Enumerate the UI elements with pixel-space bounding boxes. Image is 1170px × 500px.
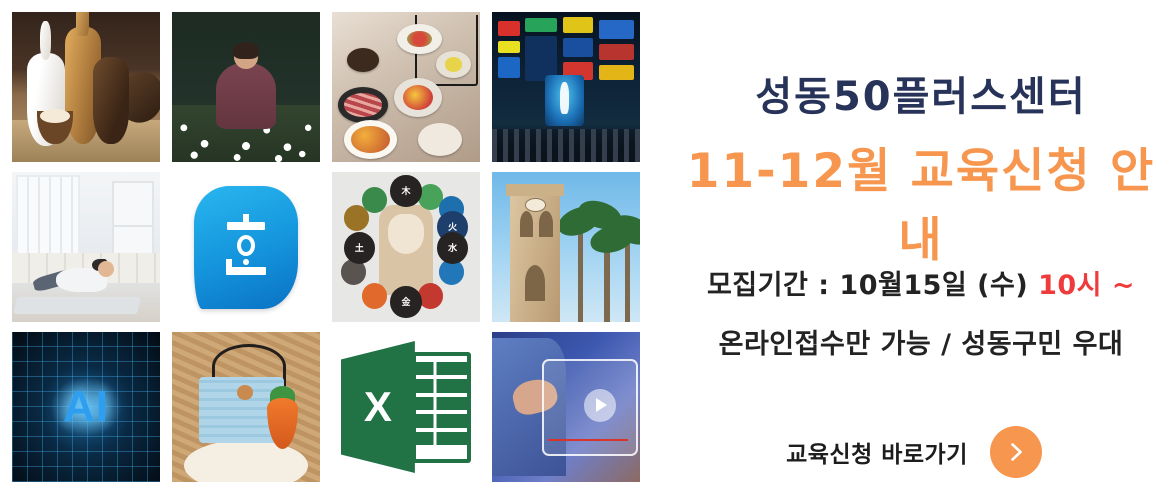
neon-sign [599, 65, 635, 80]
sauce-dish [347, 48, 380, 72]
gallery-tile-traditional-pottery-makgeolli[interactable] [12, 12, 160, 162]
five-elements-diagram: 木 火 土 金 水 [332, 172, 480, 322]
excel-logo-image: X [332, 332, 480, 482]
bottle-dark [93, 57, 129, 144]
yoga-mat [13, 297, 141, 314]
gallery-tile-japanese-kaiseki-cuisine[interactable] [332, 12, 480, 162]
element-node-metal: 金 [390, 286, 421, 318]
side-dish [436, 51, 472, 78]
element-sub-node [344, 205, 369, 231]
video-editing-photo [492, 332, 640, 482]
crochet-photo [172, 332, 320, 482]
announcement-panel: 성동50플러스센터 11-12월 교육신청 안내 모집기간 : 10월15일 (… [672, 0, 1170, 500]
spreadsheet-row [416, 414, 467, 427]
spreadsheet-row [416, 397, 467, 410]
gallery-tile-excel-logo[interactable]: X [332, 332, 480, 482]
head [98, 261, 114, 278]
figure-hair [233, 42, 260, 59]
appetizer-plate [397, 24, 441, 54]
excel-x-letter: X [341, 341, 415, 473]
spreadsheet-row [416, 379, 467, 392]
ai-circuit-image: AI [12, 332, 160, 482]
gallery-tile-hancom-hangul-app-icon[interactable] [172, 172, 320, 322]
glico-running-man-sign [545, 75, 583, 126]
apply-cta[interactable]: 교육신청 바로가기 [672, 420, 1170, 484]
promo-banner: 木 火 土 金 水 [0, 0, 1170, 500]
ho-glyph-bottom-bar [226, 267, 265, 275]
application-period-prefix: 모집기간 : 10월15일 (수) [707, 270, 1038, 301]
neon-sign [599, 44, 635, 61]
ho-glyph-top-bar [227, 222, 264, 230]
street-crowd [492, 129, 640, 162]
excel-spreadsheet [412, 352, 471, 463]
clock-tower-photo [492, 172, 640, 322]
neon-sign [599, 20, 635, 40]
main-plate [394, 78, 441, 117]
apply-cta-label: 교육신청 바로가기 [786, 435, 968, 469]
gallery-tile-ai-circuit-board[interactable]: AI [12, 332, 160, 482]
dotonbori-photo [492, 12, 640, 162]
gallery-tile-dotonbori-neon-night[interactable] [492, 12, 640, 162]
tower-arch [520, 211, 533, 237]
spreadsheet-row [416, 432, 467, 445]
neon-sign [498, 57, 520, 78]
beef-sashimi-plate [338, 87, 388, 123]
yoga-photo [12, 172, 160, 322]
application-period-line: 모집기간 : 10월15일 (수) 10시 ~ [672, 263, 1170, 302]
element-node-earth: 土 [344, 232, 375, 264]
neon-sign [525, 18, 558, 32]
bell-tower [510, 193, 560, 322]
soup-bowl [418, 123, 462, 156]
hancom-blob-shape [194, 186, 298, 309]
ho-glyph-ring [237, 235, 256, 257]
progress-bar [548, 439, 628, 441]
pottery-photo [12, 12, 160, 162]
lace-doily [184, 440, 308, 482]
tower-arch [525, 265, 546, 301]
element-sub-node [418, 283, 443, 309]
play-button-icon [584, 389, 617, 422]
apply-arrow-button[interactable] [990, 426, 1042, 478]
ho-glyph-dot [243, 259, 249, 266]
center-name-heading: 성동50플러스센터 [672, 64, 1170, 122]
seated-figure [216, 63, 275, 129]
human-organ-silhouette [379, 205, 432, 295]
wooden-button [237, 385, 253, 400]
element-node-water: 水 [437, 232, 468, 264]
neon-sign [498, 21, 520, 36]
course-image-gallery: 木 火 土 金 水 [12, 12, 652, 490]
tower-clock-face [525, 198, 546, 212]
gallery-tile-crochet-bag-carrot[interactable] [172, 332, 320, 482]
tower-arch [539, 211, 552, 237]
application-condition-line: 온라인접수만 가능 / 성동구민 우대 [672, 322, 1170, 361]
ai-label: AI [12, 332, 160, 482]
element-node-wood: 木 [390, 175, 421, 207]
gallery-tile-clock-tower-palm-trees[interactable] [492, 172, 640, 322]
basket-dish [344, 120, 397, 159]
gallery-tile-meditation-flower-field[interactable] [172, 12, 320, 162]
hancom-icon-image [172, 172, 320, 322]
neon-sign [563, 17, 593, 34]
spreadsheet-row [416, 362, 467, 375]
cuisine-photo [332, 12, 480, 162]
meditation-photo [172, 12, 320, 162]
gallery-tile-video-editing-play[interactable] [492, 332, 640, 482]
chevron-right-icon [1004, 440, 1028, 464]
gallery-tile-five-elements-health-chart[interactable]: 木 火 土 金 水 [332, 172, 480, 322]
gallery-tile-yoga-pilates-home[interactable] [12, 172, 160, 322]
campaign-heading: 11-12월 교육신청 안내 [672, 132, 1170, 270]
application-open-time: 10시 ~ [1038, 270, 1135, 301]
neon-sign [498, 41, 520, 53]
neon-sign [563, 38, 593, 58]
element-sub-node [362, 283, 387, 309]
